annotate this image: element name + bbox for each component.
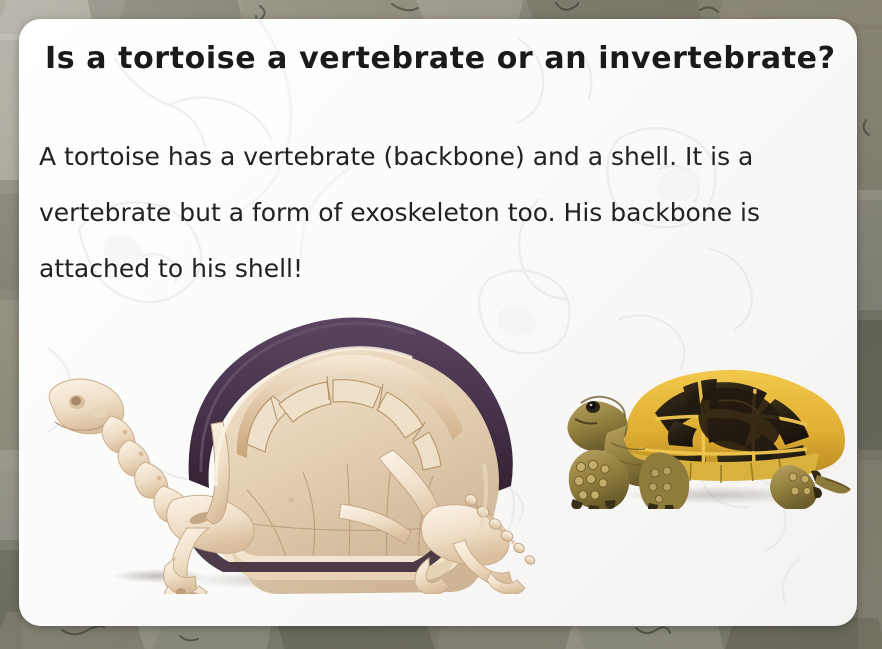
live-hermanns-tortoise — [559, 349, 857, 509]
content-card: Is a tortoise a vertebrate or an inverte… — [19, 19, 857, 626]
tortoise-skeleton-cross-section — [41, 304, 561, 594]
body-paragraph: A tortoise has a vertebrate (backbone) a… — [39, 129, 819, 297]
slide-root: Is a tortoise a vertebrate or an inverte… — [0, 0, 882, 649]
page-title: Is a tortoise a vertebrate or an inverte… — [45, 41, 835, 76]
bone-watermark-background — [19, 19, 857, 626]
illustrations-layer — [19, 19, 857, 626]
